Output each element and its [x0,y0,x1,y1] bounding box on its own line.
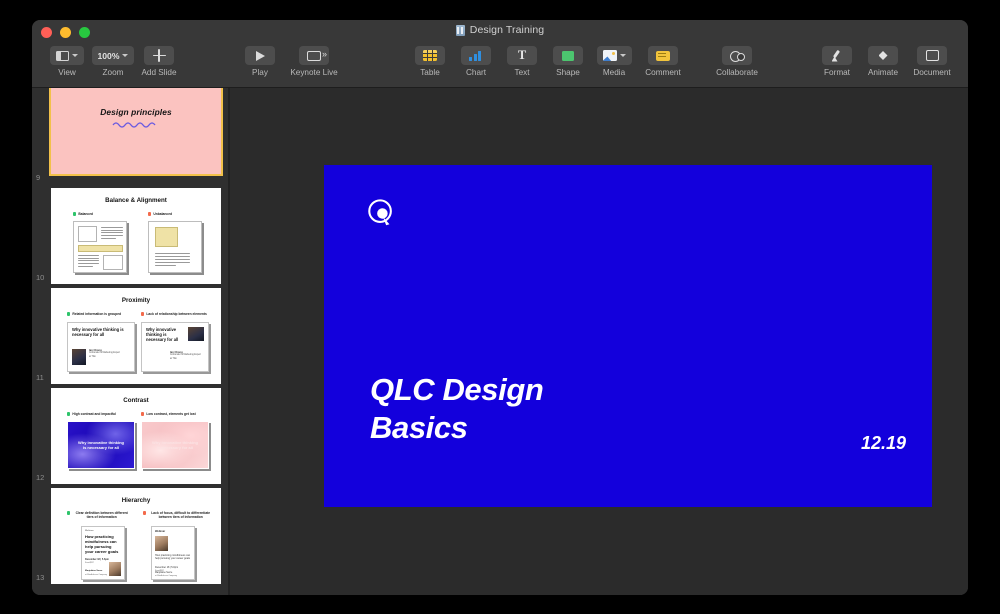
thumb-caption-left: Related information is grouped [67,312,133,316]
slide-thumbnail-12[interactable]: Contrast High contrast and impactful Low… [51,388,221,484]
chart-icon [469,50,483,61]
status-dot-positive-icon [67,412,70,415]
avatar [109,562,121,576]
slide-number: 13 [36,573,44,582]
thumb-caption-right: Lack of focus, difficult to differentiat… [143,511,213,519]
poster-heading: How practicing mindfulness can help purs… [155,554,193,561]
media-icon [603,50,617,61]
toolbar-keynote-live[interactable]: Keynote Live [283,46,345,77]
toolbar-chart[interactable]: Chart [453,46,499,77]
avatar [72,349,86,365]
card-heading: Why innovative thinking is necessary for… [146,327,182,343]
squiggle-underline-icon [112,120,160,129]
poster-clear-hierarchy: Webinar How practicing mindfulness can h… [81,526,125,580]
slide-title-line1: QLC Design [370,371,700,409]
poster-price: Free/$97 [85,562,94,564]
status-dot-negative-icon [141,412,144,415]
toolbar-add-slide[interactable]: Add Slide [136,46,182,77]
toolbar-document[interactable]: Document [906,46,958,77]
media-label: Media [603,68,625,77]
avatar [188,327,204,341]
slide-thumbnail-13[interactable]: Hierarchy Clear definition between diffe… [51,488,221,584]
slide-row[interactable]: 13 Hierarchy Clear definition between di… [32,486,228,586]
toolbar-comment[interactable]: Comment [637,46,689,77]
caption-text: Clear definition between different tiers… [72,511,131,519]
thumb-title: Proximity [51,297,221,304]
thumb-title: Contrast [51,397,221,404]
page-mock-unbalanced [148,221,202,273]
slide-date[interactable]: 12.19 [861,433,906,454]
qlc-q-logo-icon [366,198,396,228]
format-label: Format [824,68,850,77]
contrast-panel-high: Why innovative thinking is necessary for… [67,421,135,469]
slide-row[interactable]: 11 Proximity Related information is grou… [32,286,228,386]
collaborate-button[interactable] [722,46,752,65]
toolbar-right-group: Format Animate Document [814,46,958,77]
play-button[interactable] [245,46,275,65]
collaborate-icon [730,50,745,62]
view-label: View [58,68,76,77]
card-sub: at Tilio [89,356,131,359]
comment-button[interactable] [648,46,678,65]
caption-text: Low contrast, elements get lost [146,412,195,416]
slide-thumbnail-11[interactable]: Proximity Related information is grouped… [51,288,221,384]
animate-label: Animate [868,68,898,77]
keynote-window: Design Training View 100% [32,20,968,595]
broadcast-icon [307,51,321,61]
page-mock-balanced [73,221,127,273]
keynote-document-icon [456,25,465,36]
play-label: Play [252,68,268,77]
format-button[interactable] [822,46,852,65]
slide-title-line2: Basics [370,409,700,447]
slide-number: 12 [36,473,44,482]
status-dot-negative-icon [141,312,144,315]
keynote-live-label: Keynote Live [290,68,337,77]
article-card-grouped: Why innovative thinking is necessary for… [67,322,135,372]
chevron-down-icon [72,54,78,57]
thumb-caption-left: Balanced [73,212,93,216]
thumb-caption-left: Clear definition between different tiers… [67,511,131,519]
thumb-title: Design principles [51,107,221,117]
article-card-scattered: Why innovative thinking is necessary for… [141,322,209,372]
poster-kicker: Webinar [85,530,94,532]
slide-thumbnail-10[interactable]: Balance & Alignment Balanced Unbalanced [51,188,221,284]
status-dot-negative-icon [148,212,151,215]
poster-heading: How practicing mindfulness can help purs… [85,534,121,554]
shape-label: Shape [556,68,580,77]
document-button[interactable] [917,46,947,65]
slide-row[interactable]: 10 Balance & Alignment Balanced [32,186,228,286]
slide-navigator[interactable]: 9 Design principles 10 [32,88,228,595]
thumb-title-wrap: Contrast [51,397,221,404]
poster-author: Marjolaine Sevre [155,572,172,574]
chevron-down-icon [620,54,626,57]
slide-number: 9 [36,173,40,182]
zoom-value: 100% [98,51,120,61]
poster-kicker: Webinar [155,530,165,533]
toolbar-format[interactable]: Format [814,46,860,77]
slide-canvas[interactable]: QLC Design Basics 12.19 [230,88,968,595]
card-heading: Why innovative thinking is necessary for… [72,327,130,337]
view-button[interactable] [50,46,84,65]
slide-number: 11 [36,373,44,382]
poster-sub: at Mindfulness Company [85,574,107,576]
toolbar-collaborate[interactable]: Collaborate [707,46,767,77]
status-dot-positive-icon [73,212,76,215]
caption-text: Related information is grouped [72,312,121,316]
toolbar-table[interactable]: Table [407,46,453,77]
toolbar-shape[interactable]: Shape [545,46,591,77]
thumb-title-wrap: Hierarchy [51,497,221,504]
zoom-button-control[interactable]: 100% [92,46,135,65]
toolbar-collaborate-group: Collaborate [707,46,767,77]
collaborate-label: Collaborate [716,68,758,77]
slide-title[interactable]: QLC Design Basics [370,371,700,447]
animate-button[interactable] [868,46,898,65]
thumb-title-wrap: Proximity [51,297,221,304]
slide-row[interactable]: 9 Design principles [32,88,228,186]
status-dot-positive-icon [67,511,70,514]
add-slide-label: Add Slide [141,68,176,77]
thumb-caption-left: High contrast and impactful [67,412,116,416]
main-toolbar: View 100% Zoom Add Slide [32,42,968,88]
add-slide-button[interactable] [144,46,174,65]
thumb-title-wrap: Balance & Alignment [51,197,221,204]
contrast-panel-low: Why innovative thinking is necessary for… [141,421,209,469]
toolbar-view[interactable]: View [44,46,90,77]
text-label: Text [514,68,529,77]
caption-text: Lack of relationship between elements [146,312,206,316]
poster-author: Marjolaine Sevre [85,570,102,572]
shape-button[interactable] [553,46,583,65]
text-icon: T [518,50,526,61]
table-button[interactable] [415,46,445,65]
window-title-text: Design Training [470,24,544,36]
thumb-caption-right: Low contrast, elements get lost [141,412,196,416]
document-icon [926,50,939,61]
chart-button[interactable] [461,46,491,65]
caption-text: Balanced [78,212,93,216]
poster-flat-hierarchy: Webinar How practicing mindfulness can h… [151,526,195,580]
toolbar-left-group: View 100% Zoom Add Slide [44,46,182,77]
document-label: Document [913,68,950,77]
toolbar-zoom[interactable]: 100% Zoom [90,46,136,77]
card-sub: at Tilio [170,358,208,361]
panel-overlay-text: Why innovative thinking is necessary for… [152,440,198,451]
comment-label: Comment [645,68,681,77]
chart-label: Chart [466,68,486,77]
zoom-label: Zoom [103,68,124,77]
keynote-live-button[interactable] [299,46,329,65]
text-button[interactable]: T [507,46,537,65]
screen: Design Training View 100% [0,0,1000,614]
toolbar-animate[interactable]: Animate [860,46,906,77]
window-title: Design Training [32,24,968,36]
thumb-slide-9-content: Design principles [51,88,221,174]
toolbar-text[interactable]: T Text [499,46,545,77]
chevron-down-icon [122,54,128,57]
shape-icon [562,51,574,61]
comment-icon [656,51,670,61]
play-icon [256,51,265,61]
toolbar-insert-group: Table Chart T Text [407,46,689,77]
current-slide[interactable]: QLC Design Basics 12.19 [324,165,932,507]
view-panel-icon [56,51,69,61]
brush-icon [831,50,844,62]
toolbar-media[interactable]: Media [591,46,637,77]
slide-row[interactable]: 12 Contrast High contrast and impactful [32,386,228,486]
window-titlebar: Design Training [32,20,968,42]
toolbar-play-group: Play Keynote Live [237,46,345,77]
media-button[interactable] [597,46,632,65]
caption-text: High contrast and impactful [72,412,116,416]
caption-text: Unbalanced [153,212,172,216]
thumb-title: Hierarchy [51,497,221,504]
slide-navigator-scroll[interactable]: 9 Design principles 10 [32,88,228,595]
slide-number: 10 [36,273,44,282]
thumb-caption-right: Unbalanced [148,212,172,216]
poster-date: December 18 | 5-6pm [85,558,109,561]
thumb-title: Balance & Alignment [51,197,221,204]
panel-overlay-text: Why innovative thinking is necessary for… [78,440,124,451]
poster-sub: at Mindfulness Company [155,575,177,577]
status-dot-positive-icon [67,312,70,315]
table-icon [423,50,437,61]
plus-icon [153,49,166,62]
thumb-caption-right: Lack of relationship between elements [141,312,217,316]
table-label: Table [420,68,440,77]
animate-icon [877,50,889,62]
avatar [155,536,168,551]
caption-text: Lack of focus, difficult to differentiat… [148,511,213,519]
status-dot-negative-icon [143,511,146,514]
window-body: 9 Design principles 10 [32,88,968,595]
toolbar-play[interactable]: Play [237,46,283,77]
slide-thumbnail-9[interactable]: Design principles [51,88,221,174]
